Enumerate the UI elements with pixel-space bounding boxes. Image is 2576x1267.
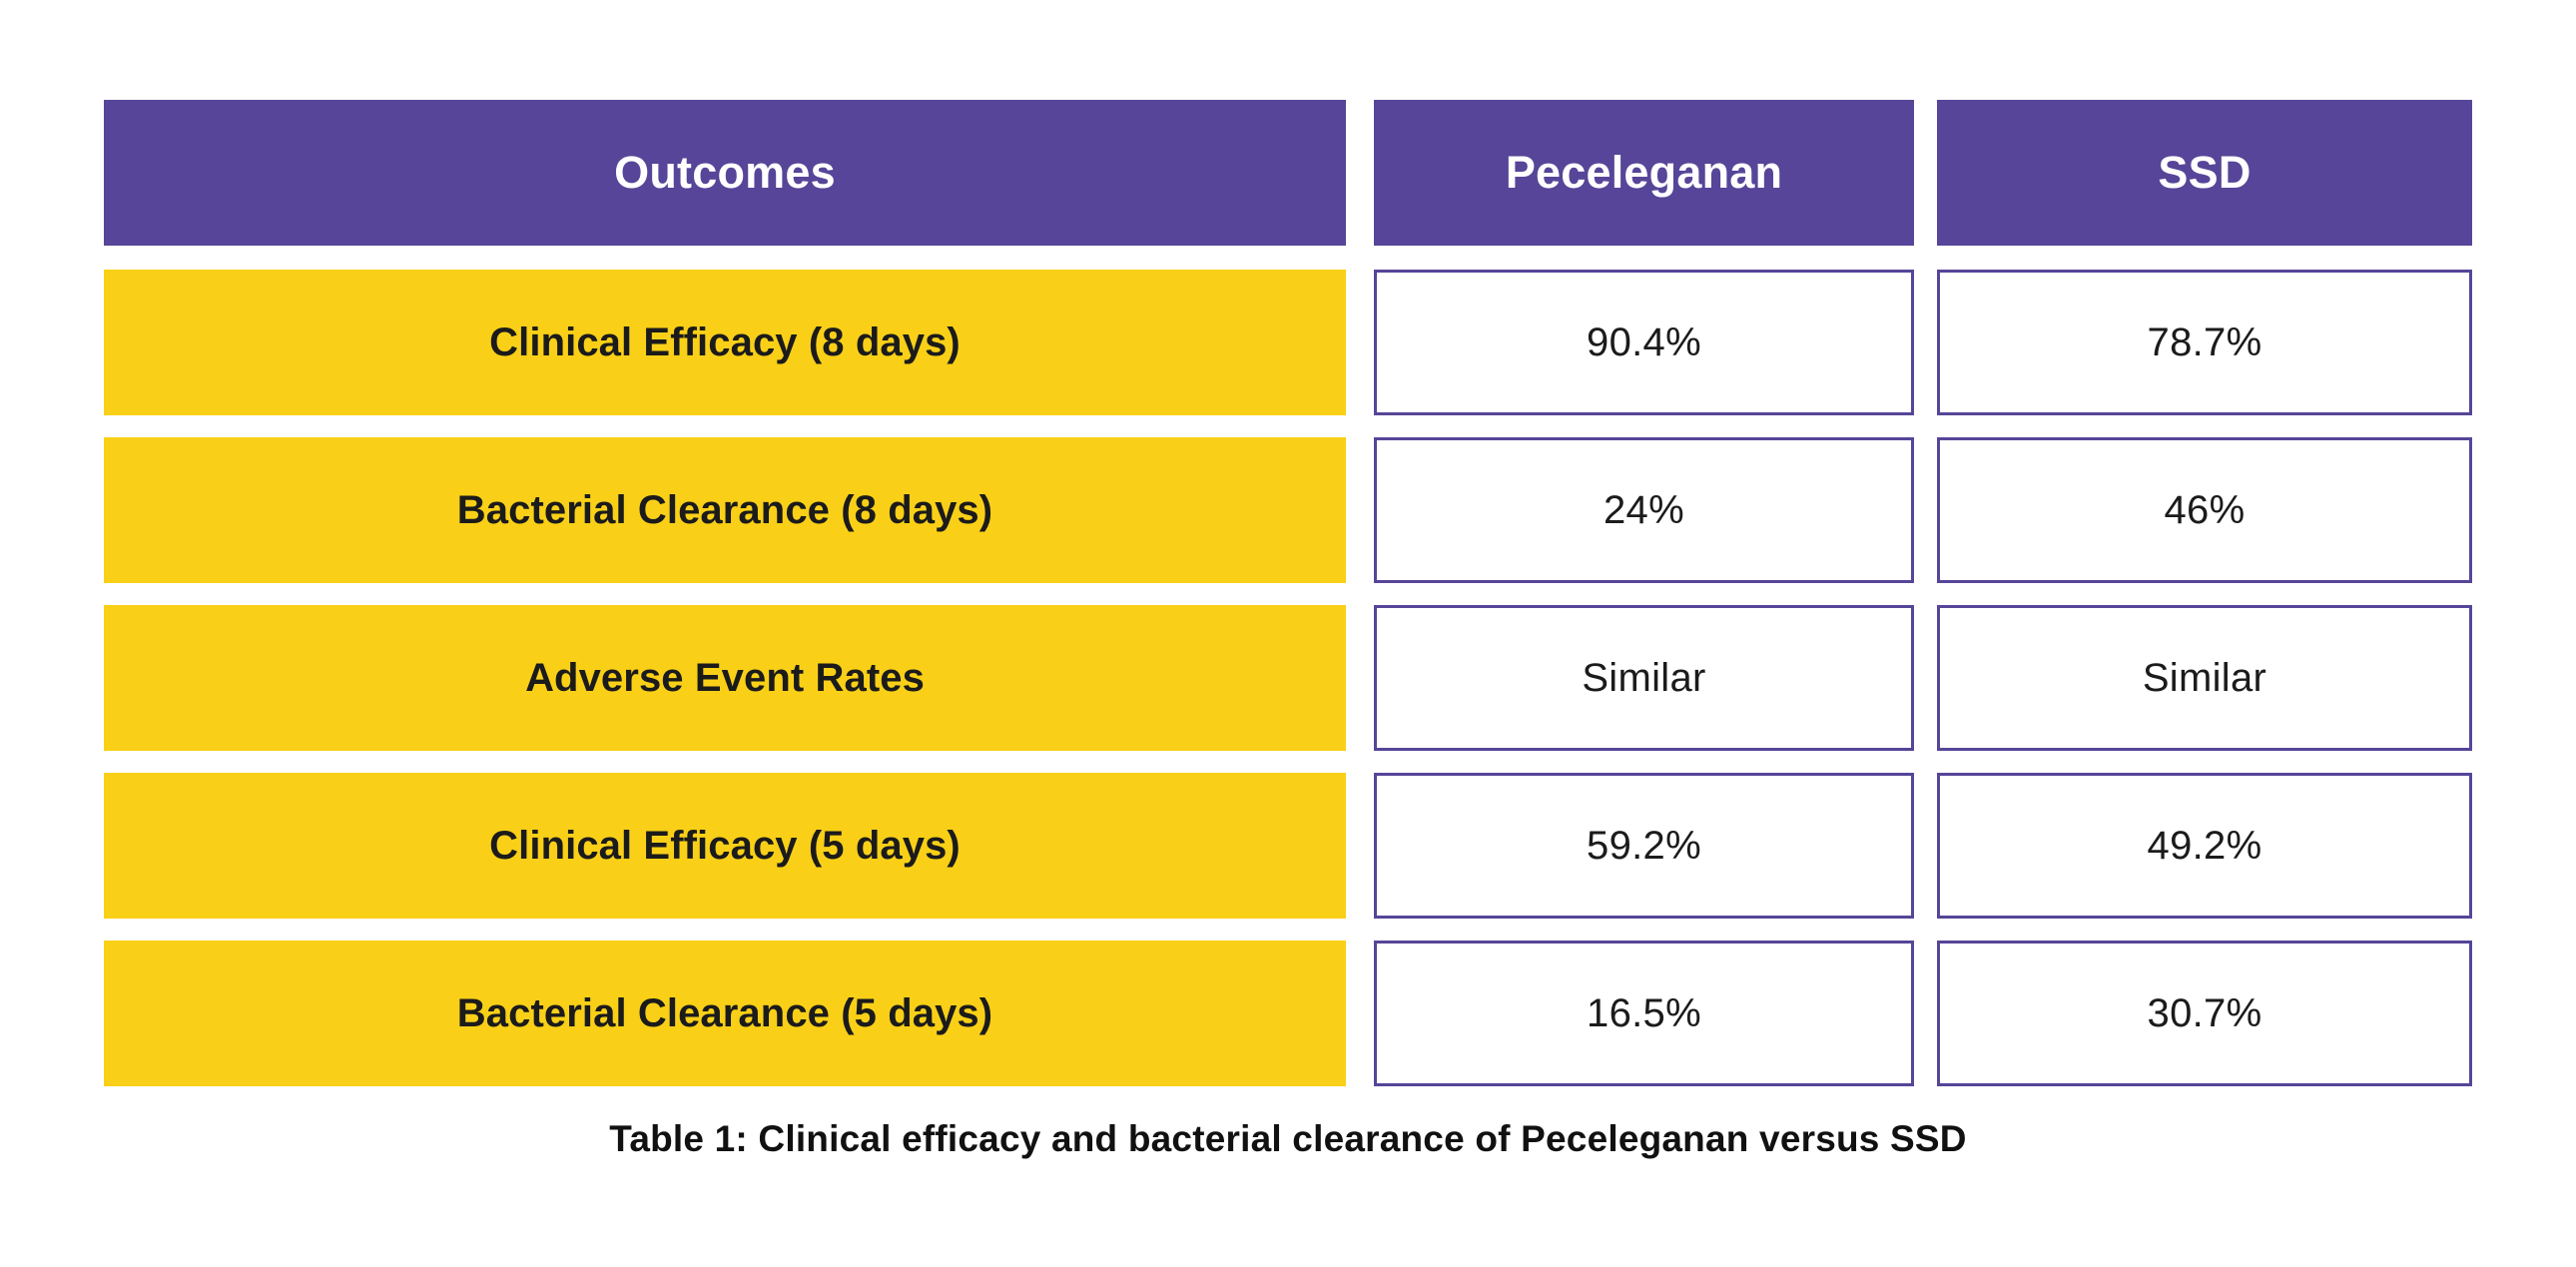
column-gap [1914,100,1937,246]
column-header-ssd: SSD [1937,100,2472,246]
row-label: Bacterial Clearance (8 days) [104,437,1346,583]
cell-ssd: 78.7% [1937,270,2472,415]
table-header-row: Outcomes Peceleganan SSD [104,100,2472,246]
cell-peceleganan: 59.2% [1374,773,1914,919]
column-header-outcomes: Outcomes [104,100,1346,246]
column-gap [1914,270,1937,415]
table-row: Clinical Efficacy (5 days) 59.2% 49.2% [104,773,2472,919]
table-row: Clinical Efficacy (8 days) 90.4% 78.7% [104,270,2472,415]
table-row: Bacterial Clearance (8 days) 24% 46% [104,437,2472,583]
column-gap [1914,437,1937,583]
table-caption: Table 1: Clinical efficacy and bacterial… [0,1118,2576,1160]
row-label: Clinical Efficacy (8 days) [104,270,1346,415]
cell-peceleganan: Similar [1374,605,1914,751]
column-gap [1914,773,1937,919]
table-row: Adverse Event Rates Similar Similar [104,605,2472,751]
row-label: Clinical Efficacy (5 days) [104,773,1346,919]
column-gap [1346,773,1374,919]
cell-peceleganan: 24% [1374,437,1914,583]
comparison-table: Outcomes Peceleganan SSD Clinical Effica… [104,100,2472,1086]
row-label: Adverse Event Rates [104,605,1346,751]
column-gap [1346,437,1374,583]
column-gap [1346,941,1374,1086]
column-gap [1914,605,1937,751]
column-gap [1914,941,1937,1086]
row-label: Bacterial Clearance (5 days) [104,941,1346,1086]
column-gap [1346,270,1374,415]
cell-peceleganan: 90.4% [1374,270,1914,415]
column-gap [1346,100,1374,246]
cell-ssd: 46% [1937,437,2472,583]
column-gap [1346,605,1374,751]
column-header-peceleganan: Peceleganan [1374,100,1914,246]
cell-ssd: 30.7% [1937,941,2472,1086]
cell-ssd: 49.2% [1937,773,2472,919]
cell-ssd: Similar [1937,605,2472,751]
cell-peceleganan: 16.5% [1374,941,1914,1086]
table-row: Bacterial Clearance (5 days) 16.5% 30.7% [104,941,2472,1086]
table-figure-page: Outcomes Peceleganan SSD Clinical Effica… [0,0,2576,1267]
